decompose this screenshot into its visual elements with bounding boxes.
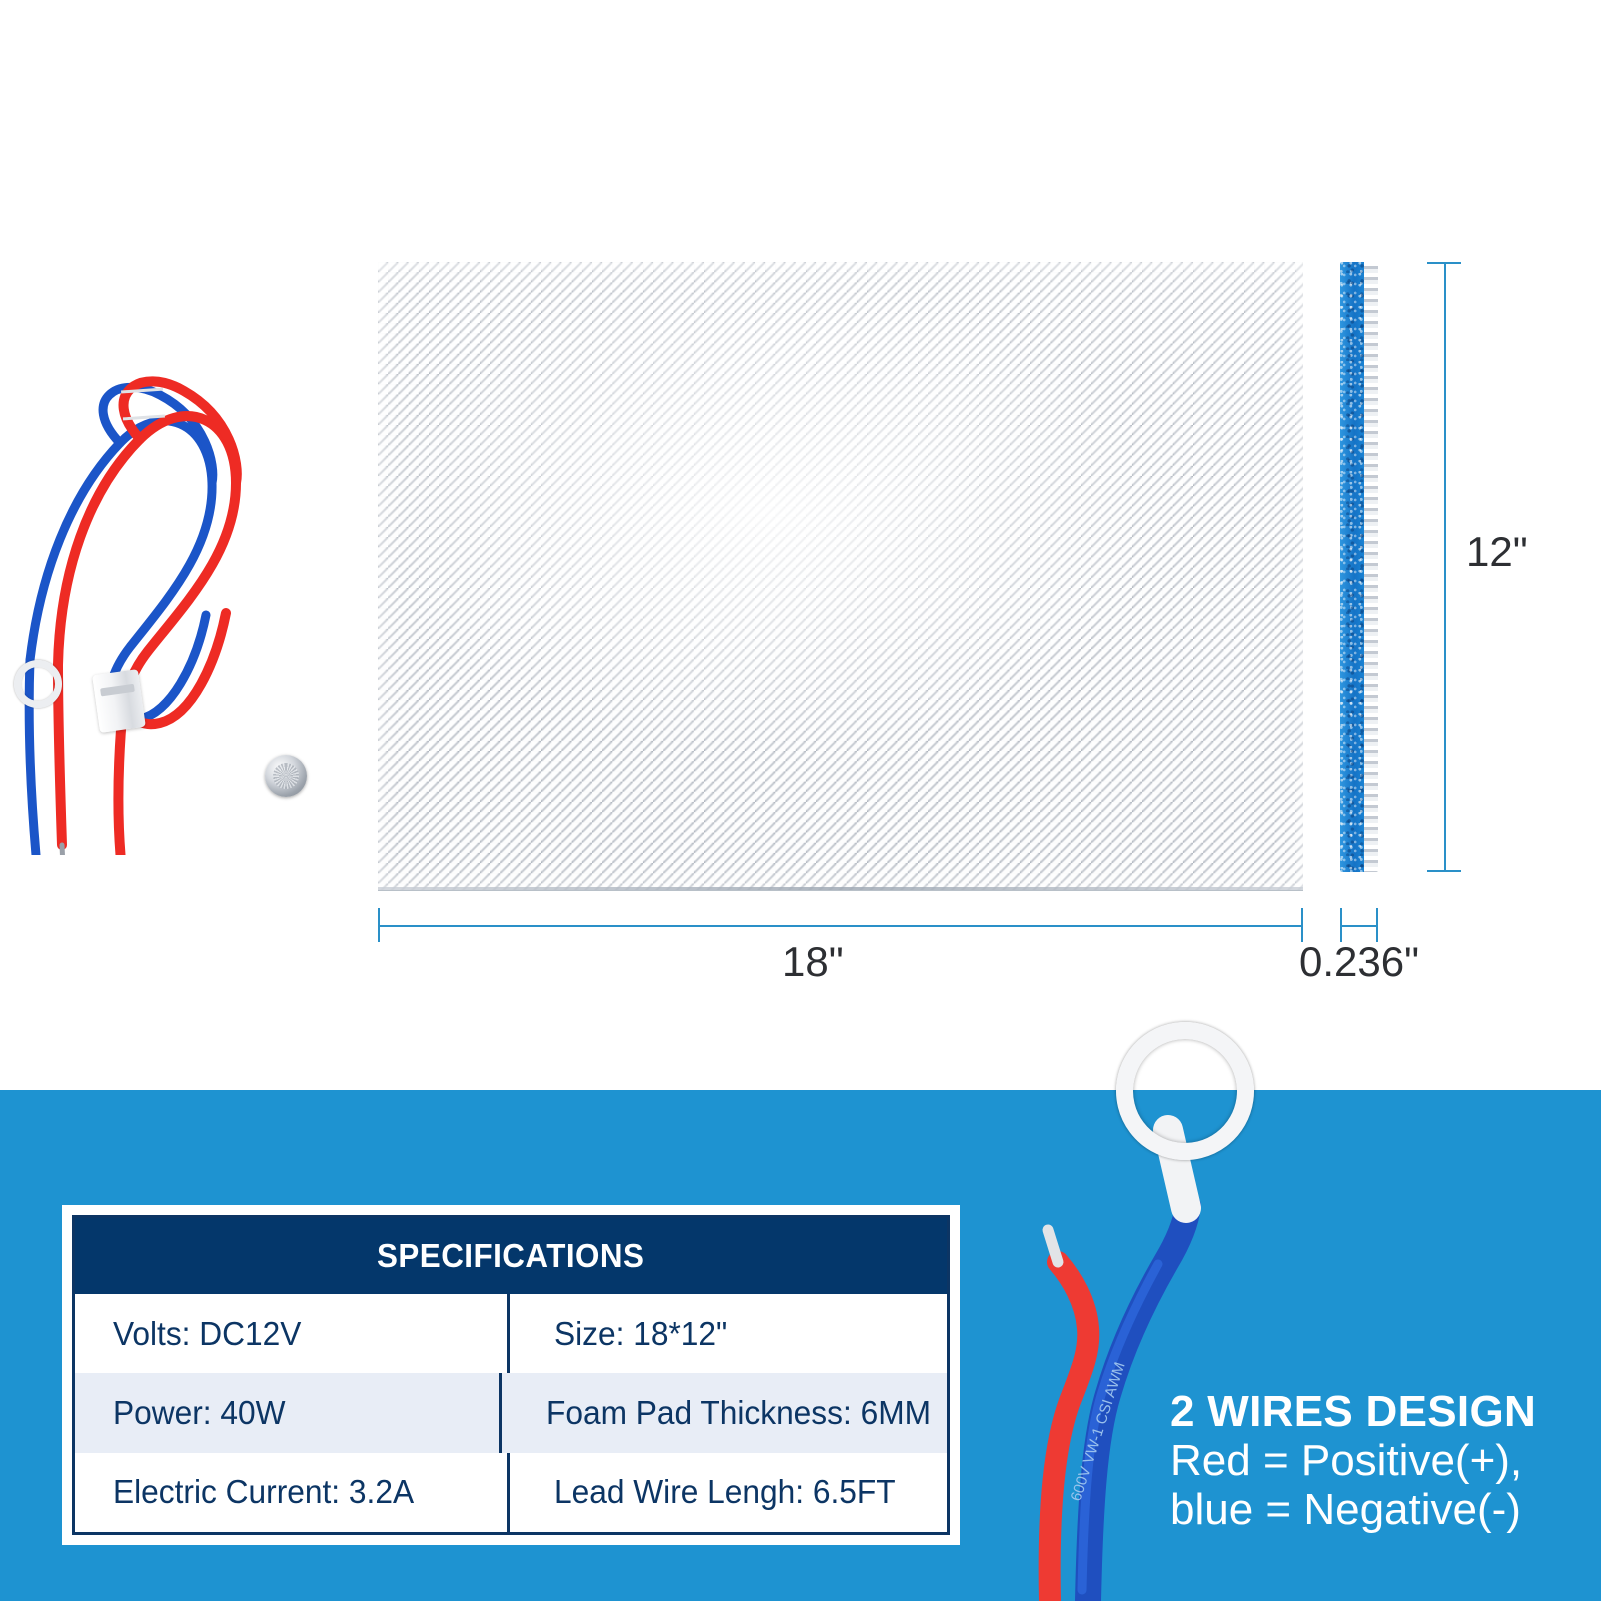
wires-callout-blue-line: blue = Negative(-) xyxy=(1170,1485,1600,1534)
white-jst-connector xyxy=(92,669,146,733)
specifications-table: SPECIFICATIONS Volts: DC12V Size: 18*12"… xyxy=(62,1205,960,1545)
ring-terminal-small xyxy=(14,660,62,708)
wires-callout: 2 WIRES DESIGN Red = Positive(+), blue =… xyxy=(1170,1388,1600,1534)
table-row: Power: 40W Foam Pad Thickness: 6MM xyxy=(75,1373,947,1452)
dimension-label-height: 12" xyxy=(1466,528,1528,576)
dimension-tick-height-top xyxy=(1427,262,1461,264)
spec-value-thickness: Foam Pad Thickness: 6MM xyxy=(546,1394,931,1432)
specifications-header: SPECIFICATIONS xyxy=(75,1218,947,1294)
spec-cell-power: Power: 40W xyxy=(75,1373,499,1452)
spec-cell-volts: Volts: DC12V xyxy=(75,1294,507,1373)
foam-foil-face xyxy=(1364,262,1378,872)
specifications-header-label: SPECIFICATIONS xyxy=(377,1237,644,1275)
spec-value-volts: Volts: DC12V xyxy=(113,1315,301,1353)
dimension-tick-height-bottom xyxy=(1427,870,1461,872)
dimension-tick-thickness-right xyxy=(1376,908,1378,942)
dimension-tick-width-right xyxy=(1301,908,1303,942)
spec-value-current: Electric Current: 3.2A xyxy=(113,1473,414,1511)
dimension-label-thickness: 0.236" xyxy=(1299,938,1419,986)
dimension-line-height xyxy=(1444,262,1446,872)
foam-edge-strip xyxy=(1340,262,1378,872)
spec-cell-wire-length: Lead Wire Lengh: 6.5FT xyxy=(507,1453,948,1532)
dimension-tick-width-left xyxy=(378,908,380,942)
spec-cell-current: Electric Current: 3.2A xyxy=(75,1453,507,1532)
wire-harness xyxy=(0,195,400,855)
pad-sheen xyxy=(378,262,1303,890)
thermostat-disc xyxy=(265,755,307,797)
dimension-line-width xyxy=(378,925,1303,927)
wire-tie xyxy=(121,388,165,421)
dimension-line-thickness xyxy=(1340,925,1378,927)
spec-value-power: Power: 40W xyxy=(113,1394,286,1432)
dimension-label-width: 18" xyxy=(782,938,844,986)
table-row: Volts: DC12V Size: 18*12" xyxy=(75,1294,947,1373)
wires-callout-red-line: Red = Positive(+), xyxy=(1170,1436,1600,1485)
product-diagram-stage: 18" 0.236" 12" xyxy=(0,0,1601,1090)
spec-value-wire-length: Lead Wire Lengh: 6.5FT xyxy=(554,1473,896,1511)
wires-callout-heading: 2 WIRES DESIGN xyxy=(1170,1388,1600,1436)
spec-cell-thickness: Foam Pad Thickness: 6MM xyxy=(499,1373,947,1452)
dimension-tick-thickness-left xyxy=(1340,908,1342,942)
table-row: Electric Current: 3.2A Lead Wire Lengh: … xyxy=(75,1453,947,1532)
spec-cell-size: Size: 18*12" xyxy=(507,1294,948,1373)
foam-blue-core xyxy=(1340,262,1366,872)
pad-bottom-edge xyxy=(378,887,1303,890)
heating-pad xyxy=(378,262,1303,890)
spec-value-size: Size: 18*12" xyxy=(554,1315,727,1353)
